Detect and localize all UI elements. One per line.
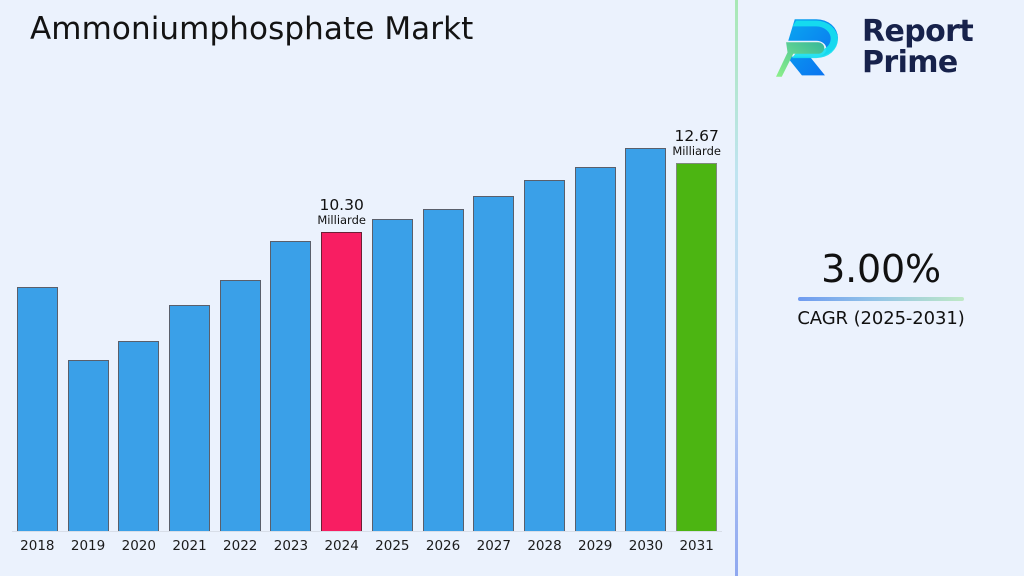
x-tick-2026: 2026	[426, 538, 460, 554]
x-tick-2018: 2018	[20, 538, 54, 554]
bar-rect-2022[interactable]	[220, 280, 261, 531]
x-tick-2029: 2029	[578, 538, 612, 554]
cagr-divider-rule	[798, 297, 964, 301]
x-tick-2028: 2028	[527, 538, 561, 554]
chart-panel: Ammoniumphosphate Markt 10.30Milliarde12…	[0, 0, 735, 576]
bar-2031[interactable]	[676, 163, 717, 531]
bar-chart-plot-area: 10.30Milliarde12.67Milliarde	[12, 120, 722, 532]
bar-value-label-2024: 10.30Milliarde	[317, 197, 366, 227]
page-title: Ammoniumphosphate Markt	[30, 11, 473, 47]
bar-rect-2021[interactable]	[169, 305, 210, 531]
bar-rect-2020[interactable]	[118, 341, 159, 531]
x-tick-2023: 2023	[274, 538, 308, 554]
bar-2021[interactable]	[169, 305, 210, 531]
bar-2024[interactable]	[321, 232, 362, 531]
bar-value-label-2031: 12.67Milliarde	[672, 128, 721, 158]
cagr-value: 3.00%	[738, 248, 1024, 291]
bar-value-2031: 12.67	[672, 128, 721, 145]
bar-rect-2025[interactable]	[372, 219, 413, 531]
bar-rect-2023[interactable]	[270, 241, 311, 531]
bar-2023[interactable]	[270, 241, 311, 531]
x-tick-2021: 2021	[172, 538, 206, 554]
bar-value-2024: 10.30	[317, 197, 366, 214]
x-tick-2022: 2022	[223, 538, 257, 554]
bar-rect-2019[interactable]	[68, 360, 109, 531]
bar-2028[interactable]	[524, 180, 565, 531]
brand-panel: Report Prime 3.00% CAGR (2025-2031)	[738, 0, 1024, 576]
brand-logo: Report Prime	[776, 12, 973, 84]
x-tick-2019: 2019	[71, 538, 105, 554]
bar-2022[interactable]	[220, 280, 261, 531]
bar-rect-2029[interactable]	[575, 167, 616, 531]
bar-rect-2024[interactable]	[321, 232, 362, 531]
bar-2026[interactable]	[423, 209, 464, 531]
x-axis-line	[12, 531, 722, 532]
bar-2018[interactable]	[17, 287, 58, 531]
bar-rect-2030[interactable]	[625, 148, 666, 531]
brand-name-line2: Prime	[862, 48, 973, 79]
bar-unit-2024: Milliarde	[317, 214, 366, 227]
x-axis-tick-labels: 2018201920202021202220232024202520262027…	[12, 538, 722, 560]
x-tick-2027: 2027	[477, 538, 511, 554]
cagr-caption: CAGR (2025-2031)	[738, 308, 1024, 329]
bar-2020[interactable]	[118, 341, 159, 531]
bar-2029[interactable]	[575, 167, 616, 531]
x-tick-2030: 2030	[629, 538, 663, 554]
x-tick-2031: 2031	[679, 538, 713, 554]
bar-rect-2018[interactable]	[17, 287, 58, 531]
bar-rect-2026[interactable]	[423, 209, 464, 531]
cagr-block: 3.00% CAGR (2025-2031)	[738, 248, 1024, 329]
bar-rect-2028[interactable]	[524, 180, 565, 531]
bar-2025[interactable]	[372, 219, 413, 531]
x-tick-2020: 2020	[122, 538, 156, 554]
report-prime-logo-icon	[776, 12, 848, 84]
bar-2019[interactable]	[68, 360, 109, 531]
bar-2027[interactable]	[473, 196, 514, 531]
x-tick-2024: 2024	[324, 538, 358, 554]
bar-unit-2031: Milliarde	[672, 145, 721, 158]
bar-rect-2027[interactable]	[473, 196, 514, 531]
bar-2030[interactable]	[625, 148, 666, 531]
brand-wordmark: Report Prime	[862, 17, 973, 78]
x-tick-2025: 2025	[375, 538, 409, 554]
bar-rect-2031[interactable]	[676, 163, 717, 531]
